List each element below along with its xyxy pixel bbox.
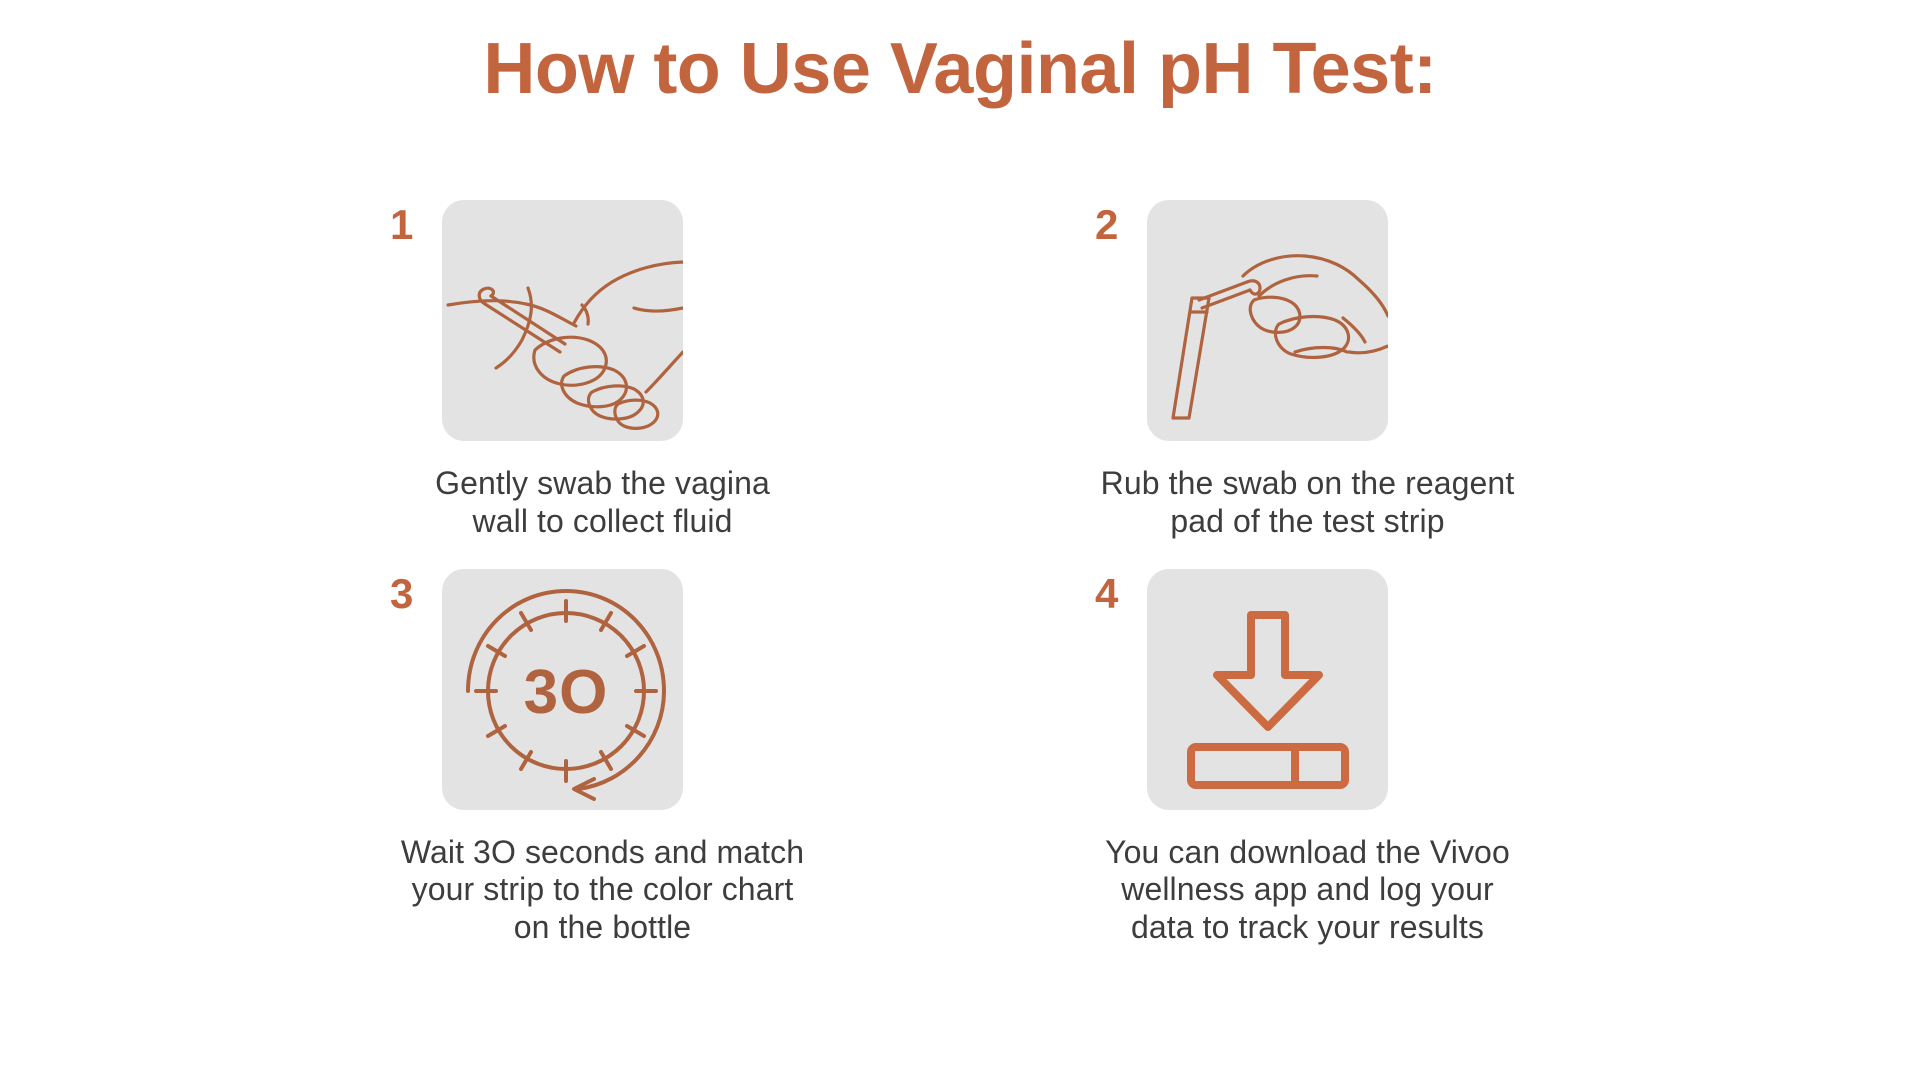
step-1-caption-line-2: wall to collect fluid [360, 503, 845, 541]
step-1-caption: Gently swab the vagina wall to collect f… [360, 465, 845, 541]
step-2-illustration-panel [1147, 200, 1388, 441]
step-2-caption-line-1: Rub the swab on the reagent [1065, 465, 1550, 503]
step-4-caption-line-3: data to track your results [1065, 909, 1550, 947]
step-4-caption: You can download the Vivoo wellness app … [1065, 834, 1550, 947]
page-title: How to Use Vaginal pH Test: [0, 28, 1920, 110]
step-4: 4 You can download the Vivoo wellness ap… [1065, 569, 1550, 947]
step-2-caption-line-2: pad of the test strip [1065, 503, 1550, 541]
step-2-header: 2 [1065, 200, 1550, 441]
step-4-caption-line-2: wellness app and log your [1065, 871, 1550, 909]
step-1-illustration-panel [442, 200, 683, 441]
step-3-number: 3 [390, 569, 442, 615]
step-3: 3 [360, 569, 845, 947]
step-3-caption-line-3: on the bottle [360, 909, 845, 947]
step-3-caption: Wait 3O seconds and match your strip to … [360, 834, 845, 947]
step-3-caption-line-1: Wait 3O seconds and match [360, 834, 845, 872]
step-4-header: 4 [1065, 569, 1550, 810]
hand-holding-swab-icon [442, 200, 683, 441]
swab-on-test-strip-icon [1147, 200, 1388, 441]
step-2: 2 [1065, 200, 1550, 541]
step-2-number: 2 [1095, 200, 1147, 246]
step-3-illustration-panel: 3O [442, 569, 683, 810]
step-1-number: 1 [390, 200, 442, 246]
step-1-header: 1 [360, 200, 845, 441]
step-1-caption-line-1: Gently swab the vagina [360, 465, 845, 503]
timer-30-seconds-icon: 3O [442, 569, 683, 810]
steps-grid: 1 [360, 200, 1550, 947]
download-app-icon [1147, 569, 1388, 810]
infographic-page: How to Use Vaginal pH Test: 1 [0, 0, 1920, 1080]
step-4-caption-line-1: You can download the Vivoo [1065, 834, 1550, 872]
step-4-illustration-panel [1147, 569, 1388, 810]
step-2-caption: Rub the swab on the reagent pad of the t… [1065, 465, 1550, 541]
step-4-number: 4 [1095, 569, 1147, 615]
timer-label: 3O [524, 658, 609, 727]
step-3-header: 3 [360, 569, 845, 810]
step-1: 1 [360, 200, 845, 541]
step-3-caption-line-2: your strip to the color chart [360, 871, 845, 909]
